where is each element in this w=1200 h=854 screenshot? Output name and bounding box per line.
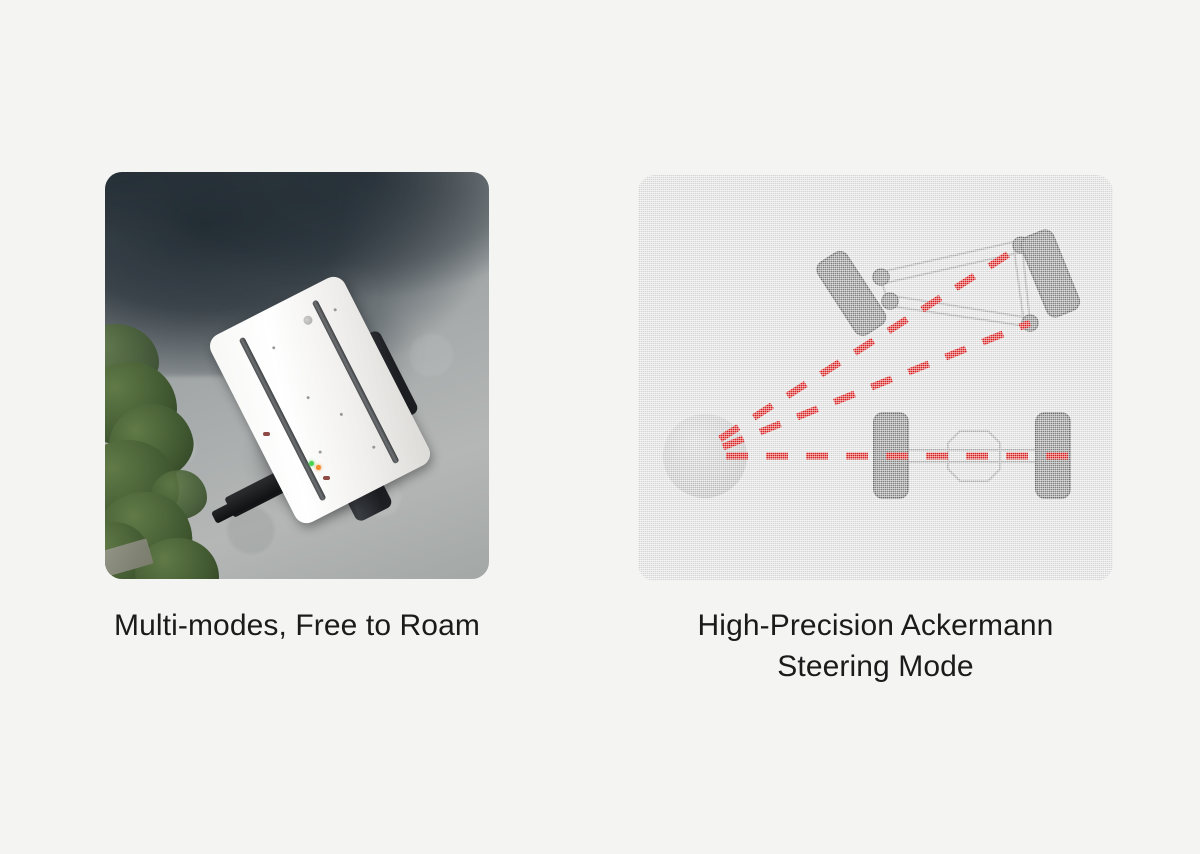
caption-ackermann: High-Precision Ackermann Steering Mode — [638, 605, 1113, 688]
status-port-icon — [302, 314, 314, 326]
caption-line-1: High-Precision Ackermann — [638, 605, 1113, 646]
indicator-red-left — [263, 432, 270, 436]
robot-photo-card — [105, 172, 489, 579]
ackermann-diagram — [638, 175, 1113, 581]
indicator-green — [309, 461, 314, 466]
caption-line-1: Multi-modes, Free to Roam — [114, 609, 480, 642]
panel-multi-mode: Multi-modes, Free to Roam — [105, 172, 489, 646]
indicator-orange — [316, 465, 321, 470]
slide-root: Multi-modes, Free to Roam — [0, 0, 1200, 854]
mounting-rail-right — [312, 299, 400, 464]
ackermann-svg — [638, 175, 1113, 581]
robot-photo — [105, 172, 489, 579]
robot-chassis — [223, 277, 433, 527]
indicator-red-right — [323, 476, 330, 480]
caption-line-2: Steering Mode — [638, 646, 1113, 687]
front-wheel-inner — [814, 249, 889, 339]
caption-multi-mode: Multi-modes, Free to Roam — [105, 605, 489, 646]
ackermann-diagram-card — [638, 175, 1113, 581]
panel-ackermann: High-Precision Ackermann Steering Mode — [638, 175, 1113, 688]
foliage — [105, 352, 241, 579]
